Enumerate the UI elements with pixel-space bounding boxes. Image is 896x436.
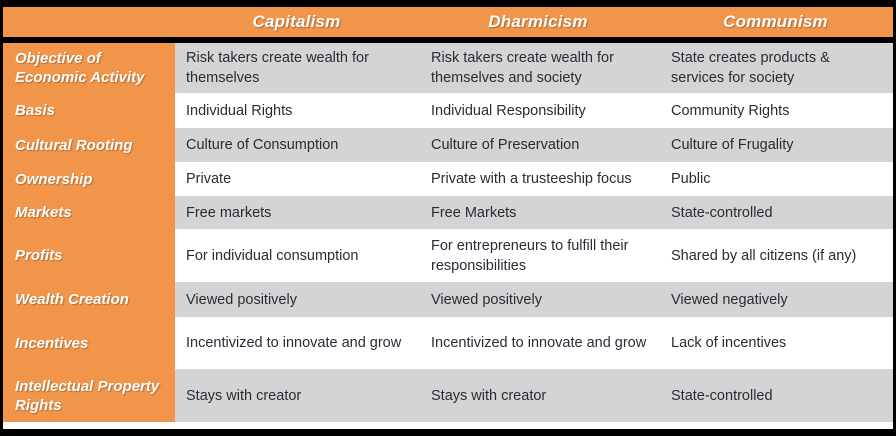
table-cell: Public: [660, 162, 893, 196]
table-cell: Free markets: [175, 196, 420, 229]
header-corner-cell: [3, 7, 175, 37]
table-rows-container: Objective of Economic ActivityRisk taker…: [3, 43, 893, 429]
table-cell: Free Markets: [420, 196, 660, 229]
table-cell: Private: [175, 162, 420, 196]
column-header-dharmicism: Dharmicism: [418, 12, 658, 32]
table-cell: Private with a trusteeship focus: [420, 162, 660, 196]
row-label: Cultural Rooting: [3, 128, 175, 162]
table-cell: Stays with creator: [175, 369, 420, 422]
table-cell: Viewed negatively: [660, 282, 893, 317]
table-cell: For individual consumption: [175, 229, 420, 282]
table-cell: Risk takers create wealth for themselves: [175, 43, 420, 93]
row-label: Incentives: [3, 317, 175, 369]
table-row: Wealth CreationViewed positivelyViewed p…: [3, 282, 893, 317]
table-cell: Community Rights: [660, 93, 893, 128]
table-row: BasisIndividual RightsIndividual Respons…: [3, 93, 893, 128]
row-label: Markets: [3, 196, 175, 229]
comparison-table: Capitalism Dharmicism Communism Objectiv…: [0, 0, 896, 436]
table-cell: Shared by all citizens (if any): [660, 229, 893, 282]
table-row: OwnershipPrivatePrivate with a trusteesh…: [3, 162, 893, 196]
column-header-communism: Communism: [658, 12, 893, 32]
table-cell: State-controlled: [660, 369, 893, 422]
table-cell: Culture of Frugality: [660, 128, 893, 162]
table-cell: Viewed positively: [175, 282, 420, 317]
table-cell: For entrepreneurs to fulfill their respo…: [420, 229, 660, 282]
table-row: Objective of Economic ActivityRisk taker…: [3, 43, 893, 93]
row-label: Ownership: [3, 162, 175, 196]
table-cell: Incentivized to innovate and grow: [175, 317, 420, 369]
table-row: Intellectual Property RightsStays with c…: [3, 369, 893, 422]
row-label: Objective of Economic Activity: [3, 43, 175, 93]
row-label: Wealth Creation: [3, 282, 175, 317]
table-row: ProfitsFor individual consumptionFor ent…: [3, 229, 893, 282]
table-row: IncentivesIncentivized to innovate and g…: [3, 317, 893, 369]
table-cell: Culture of Consumption: [175, 128, 420, 162]
bottom-border-rule: [3, 429, 893, 436]
table-body: Objective of Economic ActivityRisk taker…: [3, 43, 893, 429]
table-cell: Individual Responsibility: [420, 93, 660, 128]
column-header-capitalism: Capitalism: [175, 12, 418, 32]
table-cell: Incentivized to innovate and grow: [420, 317, 660, 369]
table-cell: Culture of Preservation: [420, 128, 660, 162]
table-row: Cultural RootingCulture of ConsumptionCu…: [3, 128, 893, 162]
table-cell: Lack of incentives: [660, 317, 893, 369]
table-cell: Stays with creator: [420, 369, 660, 422]
top-border-rule: [3, 0, 893, 7]
table-row: MarketsFree marketsFree MarketsState-con…: [3, 196, 893, 229]
table-cell: Risk takers create wealth for themselves…: [420, 43, 660, 93]
row-label: Intellectual Property Rights: [3, 369, 175, 422]
table-header-row: Capitalism Dharmicism Communism: [3, 7, 893, 43]
table-cell: Individual Rights: [175, 93, 420, 128]
table-cell: State-controlled: [660, 196, 893, 229]
row-label: Basis: [3, 93, 175, 128]
table-cell: Viewed positively: [420, 282, 660, 317]
table-cell: State creates products & services for so…: [660, 43, 893, 93]
row-label: Profits: [3, 229, 175, 282]
